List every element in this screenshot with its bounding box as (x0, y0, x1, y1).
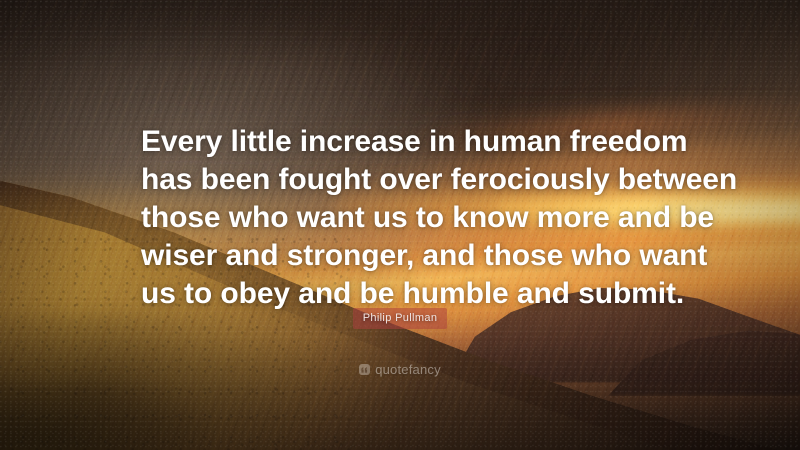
quote-line-2: has been fought over ferociously between (141, 161, 681, 199)
vegetation-shadow-lower (0, 378, 208, 450)
quote-line-1: Every little increase in human freedom (141, 123, 681, 161)
quote-image: Every little increase in human freedom h… (0, 0, 800, 450)
author-name[interactable]: Philip Pullman (353, 308, 448, 329)
quote-badge-icon (359, 364, 370, 375)
quote-text: Every little increase in human freedom h… (141, 123, 681, 313)
quote-line-4: wiser and stronger, and those who want (141, 237, 681, 275)
attribution: Philip Pullman (0, 308, 800, 329)
quote-line-3: those who want us to know more and be (141, 199, 681, 237)
watermark[interactable]: quotefancy (0, 362, 800, 377)
watermark-brand: quotefancy (375, 362, 441, 377)
